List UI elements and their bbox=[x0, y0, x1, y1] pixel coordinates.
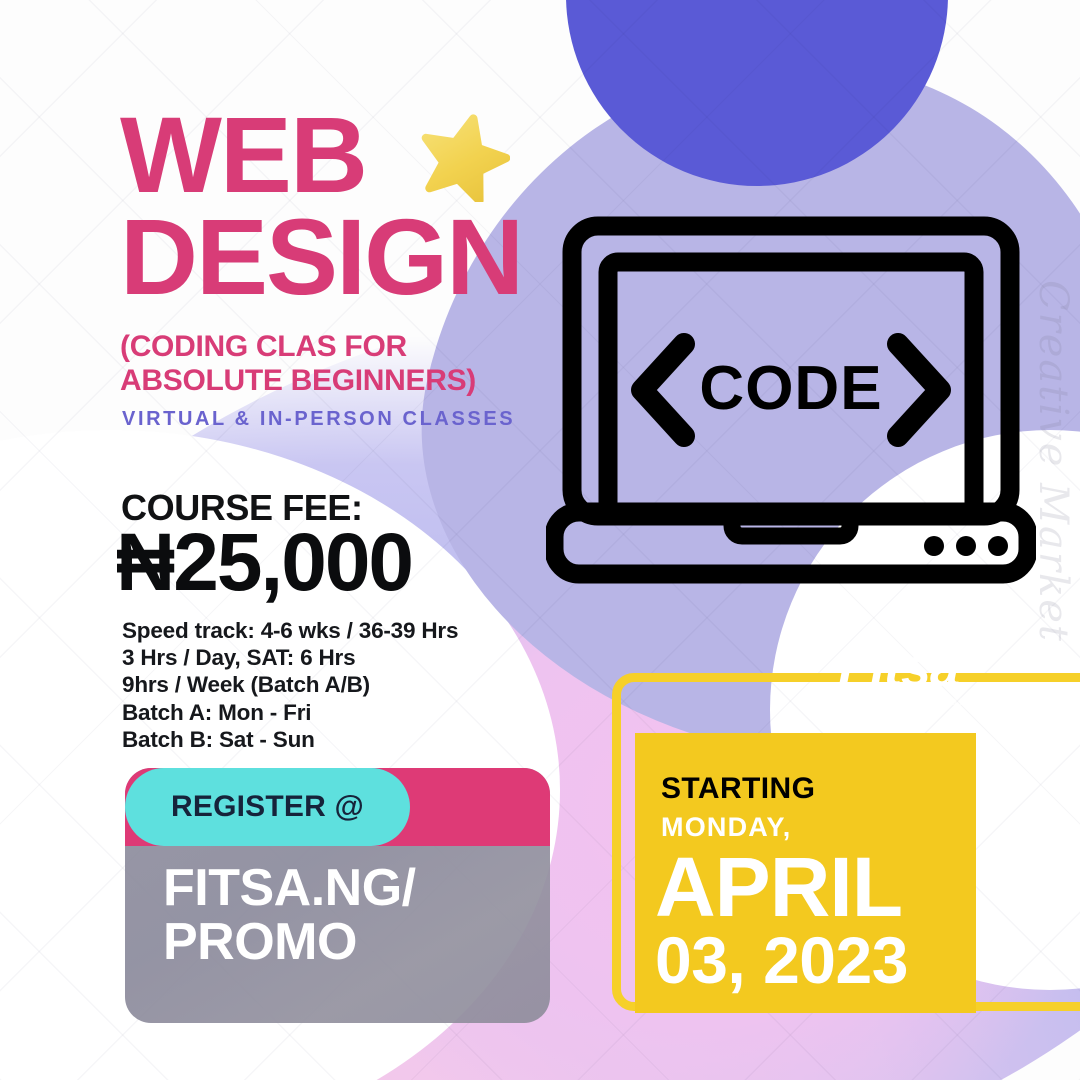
subtitle-line-1: (CODING CLAS FOR bbox=[120, 330, 590, 364]
registration-url[interactable]: FITSA.NG/ PROMO bbox=[163, 862, 523, 969]
headline-block: WEB DESIGN bbox=[120, 104, 590, 307]
headline-line-2: DESIGN bbox=[120, 206, 590, 308]
headline-subtitle: (CODING CLAS FOR ABSOLUTE BEGINNERS) bbox=[120, 330, 590, 397]
logo-star-icon bbox=[866, 639, 896, 669]
date-weekday: MONDAY, bbox=[661, 812, 791, 843]
headline-line-1: WEB bbox=[120, 104, 590, 206]
date-day-year: 03, 2023 bbox=[655, 927, 908, 993]
fitsa-wordmark: Fitsa bbox=[838, 641, 959, 695]
laptop-code-illustration: CODE bbox=[546, 216, 1036, 586]
poster-canvas: Creative Market CODE WEB DESIGN bbox=[0, 0, 1080, 1080]
schedule-line: 3 Hrs / Day, SAT: 6 Hrs bbox=[122, 644, 542, 671]
date-starting-label: STARTING bbox=[661, 772, 815, 806]
schedule-list: Speed track: 4-6 wks / 36-39 Hrs 3 Hrs /… bbox=[122, 617, 542, 753]
laptop-icon: CODE bbox=[546, 216, 1036, 586]
fitsa-tagline: FREE IT SKILL FOR ALL bbox=[840, 697, 988, 717]
date-month: APRIL bbox=[655, 845, 902, 929]
svg-text:CODE: CODE bbox=[699, 354, 882, 423]
watermark-script-text: Creative Market bbox=[1030, 280, 1076, 643]
schedule-line: Batch B: Sat - Sun bbox=[122, 726, 542, 753]
class-mode-label: VIRTUAL & IN-PERSON CLASSES bbox=[122, 408, 515, 431]
registration-url-line-1: FITSA.NG/ bbox=[163, 862, 523, 916]
register-pill-label: REGISTER @ bbox=[171, 790, 364, 824]
star-icon bbox=[418, 110, 510, 202]
fitsa-logo: Fitsa FREE IT SKILL FOR ALL bbox=[838, 641, 988, 716]
schedule-line: Batch A: Mon - Fri bbox=[122, 699, 542, 726]
course-fee-amount: ₦25,000 bbox=[116, 522, 412, 604]
registration-url-line-2: PROMO bbox=[163, 916, 523, 970]
register-cta[interactable]: REGISTER @ FITSA.NG/ PROMO bbox=[125, 768, 550, 1023]
register-pill-button[interactable]: REGISTER @ bbox=[125, 768, 410, 846]
subtitle-line-2: ABSOLUTE BEGINNERS) bbox=[120, 364, 590, 398]
schedule-line: 9hrs / Week (Batch A/B) bbox=[122, 671, 542, 698]
schedule-line: Speed track: 4-6 wks / 36-39 Hrs bbox=[122, 617, 542, 644]
